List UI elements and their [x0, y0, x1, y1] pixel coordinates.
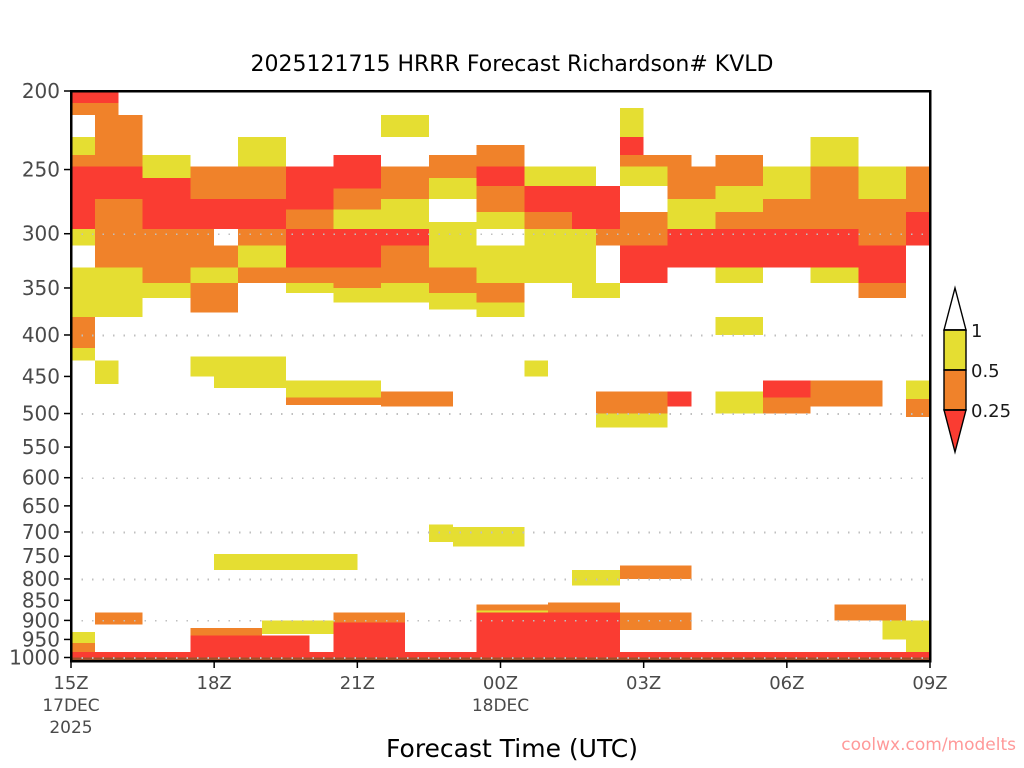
heatmap-cell	[190, 199, 238, 229]
heatmap-cell	[71, 348, 95, 360]
heatmap-cell	[190, 356, 214, 376]
heatmap-cell	[572, 283, 620, 298]
heatmap-cell	[143, 155, 191, 178]
heatmap-cell	[190, 628, 262, 636]
heatmap-cell	[381, 283, 429, 303]
heatmap-cell	[381, 392, 453, 407]
heatmap-cell	[143, 178, 191, 229]
heatmap-cell	[429, 267, 477, 293]
heatmap-cell	[71, 632, 95, 643]
heatmap-cell	[71, 91, 119, 103]
heatmap-cell	[453, 527, 525, 547]
x-tick-label: 06Z	[769, 673, 804, 694]
heatmap-cell	[477, 245, 525, 283]
heatmap-cell	[429, 155, 477, 178]
y-tick-label: 300	[22, 222, 60, 246]
x-origin-year: 2025	[49, 718, 92, 738]
y-tick-label: 400	[22, 323, 60, 347]
heatmap-cell	[143, 283, 191, 298]
heatmap-cell	[238, 167, 286, 200]
heatmap-cell	[596, 392, 668, 414]
y-tick-label: 450	[22, 364, 60, 388]
heatmap-cell	[143, 245, 191, 283]
x-tick-label: 15Z	[53, 673, 88, 694]
x-secondday-label: 18DEC	[472, 696, 529, 716]
heatmap-cell	[333, 229, 381, 267]
x-tick-label: 03Z	[626, 673, 661, 694]
y-tick-label: 1000	[9, 645, 60, 669]
heatmap-cell	[524, 229, 596, 283]
heatmap-cell	[477, 604, 549, 610]
heatmap-cell	[572, 570, 620, 585]
y-tick-label: 500	[22, 402, 60, 426]
heatmap-cell	[596, 414, 668, 428]
heatmap-cell	[286, 283, 334, 293]
heatmap-cell	[477, 167, 525, 186]
heatmap-cell	[524, 186, 572, 212]
heatmap-cell	[668, 199, 716, 229]
y-tick-label: 350	[22, 276, 60, 300]
y-tick-label: 250	[22, 158, 60, 182]
heatmap-cell	[95, 167, 143, 200]
heatmap-cell	[286, 267, 334, 283]
heatmap-cell	[143, 229, 215, 245]
heatmap-cell	[906, 399, 930, 417]
heatmap-cell	[763, 398, 811, 414]
heatmap-cell	[381, 115, 429, 137]
heatmap-cell	[835, 604, 907, 620]
heatmap-cell	[477, 212, 525, 229]
heatmap-cell	[524, 360, 548, 376]
heatmap-cell	[572, 186, 620, 229]
x-origin-day: 17DEC	[42, 696, 99, 716]
y-tick-label: 200	[22, 79, 60, 103]
heatmap-cell	[381, 199, 429, 229]
heatmap-cell	[596, 229, 668, 245]
heatmap-cell	[286, 167, 334, 210]
heatmap-cell	[477, 145, 525, 167]
heatmap-cell	[858, 283, 906, 298]
heatmap-cell	[858, 199, 906, 245]
heatmap-cell	[858, 167, 906, 200]
heatmap-cell	[858, 245, 906, 283]
heatmap-cell	[477, 186, 525, 212]
heatmap-cell	[763, 199, 811, 229]
x-axis-title: Forecast Time (UTC)	[386, 734, 638, 763]
heatmap-cell	[429, 293, 477, 309]
x-tick-label: 09Z	[912, 673, 947, 694]
colorbar-band	[944, 370, 966, 410]
heatmap-cell	[333, 267, 381, 288]
heatmap-cell	[95, 267, 143, 317]
heatmap-cell	[190, 267, 238, 283]
heatmap-cell	[620, 566, 692, 579]
heatmap-cell	[238, 267, 286, 283]
heatmap-cell	[71, 229, 95, 245]
heatmap-cell	[381, 167, 429, 200]
heatmap-cell	[668, 392, 692, 407]
heatmap-cell	[95, 115, 143, 167]
heatmap-cell	[71, 155, 95, 167]
colorbar-tick-label: 1	[971, 321, 982, 342]
heatmap-cell	[214, 356, 286, 388]
heatmap-cell	[763, 167, 811, 200]
heatmap-cell	[620, 108, 644, 137]
y-tick-label: 700	[22, 520, 60, 544]
heatmap-cell	[715, 212, 763, 229]
heatmap-cell	[238, 137, 286, 167]
heatmap-cell	[95, 613, 143, 625]
heatmap-cell	[906, 167, 930, 212]
heatmap-cell	[190, 283, 238, 312]
heatmap-cell	[71, 643, 95, 652]
heatmap-cell	[238, 245, 286, 267]
chart-title: 2025121715 HRRR Forecast Richardson# KVL…	[251, 52, 774, 77]
heatmap-cell	[763, 380, 811, 397]
heatmap-cell	[71, 137, 95, 155]
heatmap-cell	[286, 398, 381, 405]
heatmap-cell	[620, 155, 692, 167]
x-tick-label: 00Z	[483, 673, 518, 694]
heatmap-cell	[763, 229, 811, 267]
heatmap-cell	[333, 155, 381, 189]
heatmap-cell	[882, 620, 930, 639]
heatmap-cell	[620, 137, 644, 155]
heatmap-cell	[715, 317, 763, 335]
heatmap-cell	[214, 554, 357, 570]
heatmap-cell	[429, 222, 477, 267]
colorbar-tick-label: 0.5	[971, 361, 1000, 382]
heatmap-cell	[477, 283, 525, 303]
heatmap-cell	[286, 209, 334, 229]
heatmap-cell	[524, 167, 596, 186]
heatmap-cell	[429, 178, 477, 199]
heatmap-cell	[190, 245, 238, 267]
y-tick-label: 750	[22, 544, 60, 568]
heatmap-cell	[715, 155, 763, 186]
heatmap-cell	[238, 229, 286, 245]
y-tick-label: 600	[22, 466, 60, 490]
forecast-timeheight-chart: 2025121715 HRRR Forecast Richardson# KVL…	[0, 0, 1024, 768]
heatmap-cell	[811, 137, 859, 167]
heatmap-cell	[381, 245, 429, 283]
heatmap-cell	[71, 317, 95, 348]
heatmap-cell	[906, 212, 930, 245]
heatmap-cell	[190, 167, 238, 200]
heatmap-cell	[238, 199, 286, 229]
colorbar-tick-label: 0.25	[971, 401, 1011, 422]
heatmap-cell	[71, 103, 119, 115]
heatmap-cell	[71, 652, 930, 657]
heatmap-cell	[906, 639, 930, 652]
watermark: coolwx.com/modelts	[841, 735, 1016, 755]
chart-page: 2025121715 HRRR Forecast Richardson# KVL…	[0, 0, 1024, 768]
heatmap-cell	[333, 189, 381, 210]
heatmap-cell	[286, 380, 381, 397]
x-tick-label: 21Z	[340, 673, 375, 694]
heatmap-cell	[477, 613, 620, 658]
colorbar-band	[944, 330, 966, 370]
heatmap-cell	[906, 380, 930, 399]
heatmap-cell	[333, 209, 381, 229]
heatmap-cell	[811, 167, 859, 229]
heatmap-cell	[715, 186, 763, 212]
heatmap-cell	[71, 267, 95, 317]
heatmap-cell	[477, 303, 525, 317]
heatmap-cell	[71, 167, 95, 229]
heatmap-cell	[381, 229, 429, 245]
heatmap-cell	[811, 380, 883, 406]
x-tick-label: 18Z	[197, 673, 232, 694]
heatmap-cell	[95, 360, 119, 384]
heatmap-cell	[95, 199, 143, 267]
heatmap-cell	[715, 267, 763, 283]
heatmap-cell	[811, 267, 859, 283]
y-tick-label: 650	[22, 494, 60, 518]
y-tick-label: 550	[22, 435, 60, 459]
heatmap-cell	[333, 288, 381, 303]
heatmap-cell	[262, 620, 334, 633]
heatmap-cell	[620, 245, 668, 283]
